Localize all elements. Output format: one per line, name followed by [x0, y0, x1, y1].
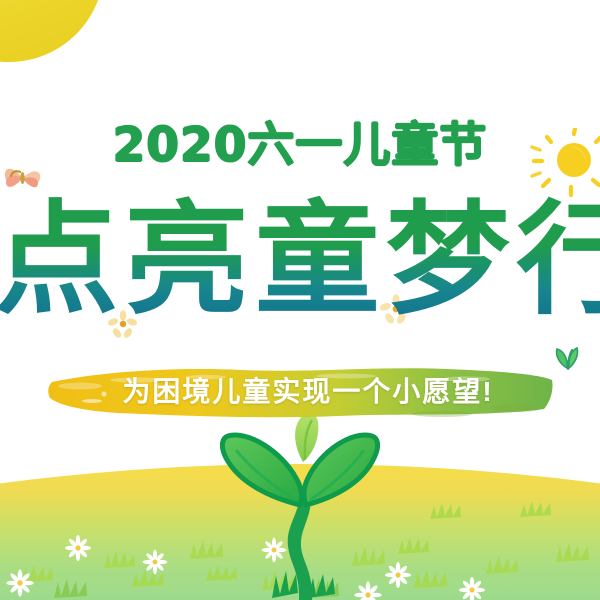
page-title: 点亮童梦行动 [0, 196, 600, 325]
subtitle-banner: 为困境儿童实现一个小愿望! [46, 364, 556, 420]
poster-canvas: 2020六一儿童节 点亮童梦行动 [0, 0, 600, 600]
subtitle-text: 为困境儿童实现一个小愿望! [46, 375, 556, 409]
sprout-leaf-right [304, 435, 378, 505]
sprout-stem [288, 498, 312, 600]
corner-badge-label: 训练营 [0, 19, 72, 42]
event-year-line: 2020六一儿童节 [0, 122, 600, 169]
